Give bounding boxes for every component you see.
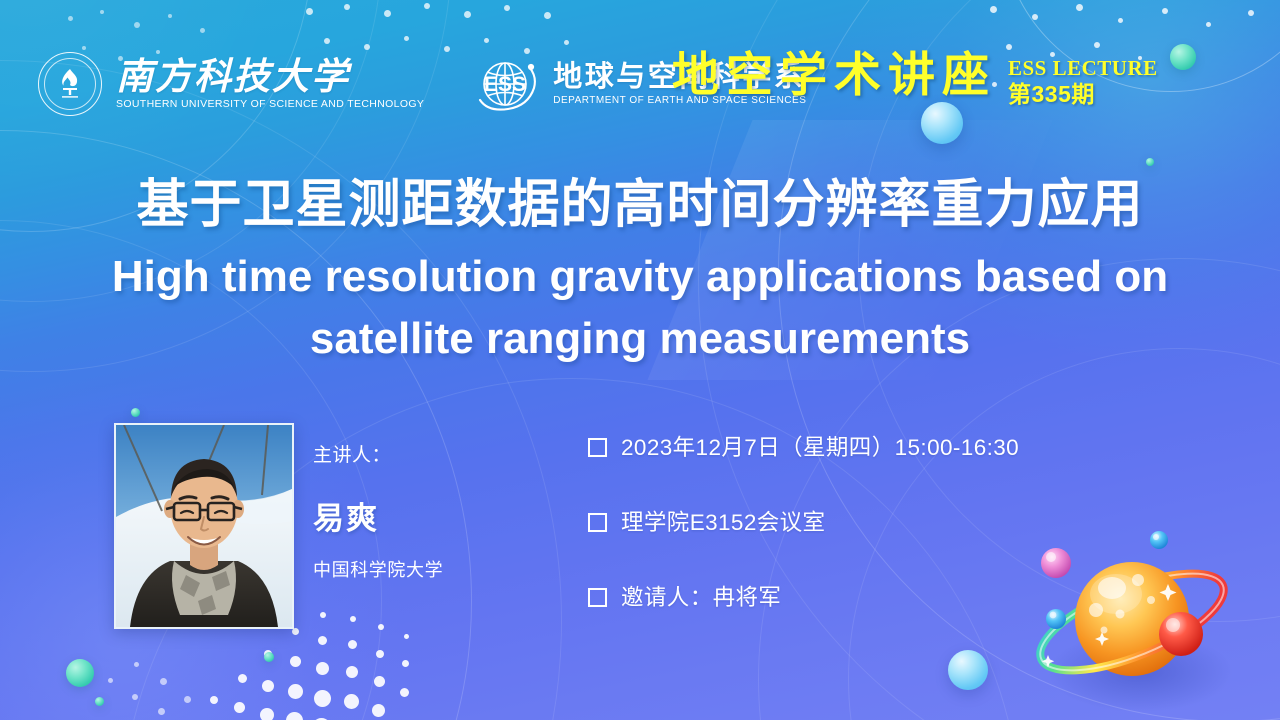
talk-title-en-line2: satellite ranging measurements — [20, 308, 1260, 370]
university-name-cn: 南方科技大学 — [116, 59, 424, 96]
detail-row-host: 邀请人：冉将军 — [588, 580, 1019, 612]
speaker-info: 主讲人： 易爽 中国科学院大学 — [313, 440, 443, 582]
saturn-planet-icon — [1020, 522, 1278, 712]
event-host: 邀请人：冉将军 — [621, 580, 781, 612]
teal-dot-mid-left — [131, 408, 140, 417]
teal-dot-bottom-left-small — [95, 697, 104, 706]
talk-title-en-line1: High time resolution gravity application… — [20, 246, 1260, 308]
speaker-photo — [114, 423, 294, 629]
series-meta: ESS LECTURE 第335期 — [1008, 56, 1158, 108]
series-title-cn: 地空学术讲座 — [672, 52, 996, 101]
teal-sphere-bottom-left — [66, 659, 94, 687]
svg-text:ESS: ESS — [484, 73, 526, 96]
teal-dot-title-left — [1146, 158, 1154, 166]
lecture-poster: 南方科技大学 SOUTHERN UNIVERSITY OF SCIENCE AN… — [0, 0, 1280, 720]
hollow-square-bullet-icon — [588, 438, 607, 457]
teal-sphere-top-right — [1170, 44, 1196, 70]
speaker-name: 易爽 — [313, 503, 443, 534]
hollow-square-bullet-icon — [588, 513, 607, 532]
hollow-square-bullet-icon — [588, 588, 607, 607]
seal-flame-icon — [57, 68, 83, 98]
university-name-en: SOUTHERN UNIVERSITY OF SCIENCE AND TECHN… — [116, 98, 424, 110]
speaker-label: 主讲人： — [313, 440, 443, 467]
speaker-portrait-image — [116, 425, 292, 627]
pink-sphere-icon — [1041, 548, 1071, 578]
speaker-affiliation: 中国科学院大学 — [313, 556, 443, 582]
blue-sphere-top-icon — [1150, 531, 1168, 549]
detail-row-location: 理学院E3152会议室 — [588, 505, 1019, 537]
detail-row-datetime: 2023年12月7日（星期四）15:00-16:30 — [588, 430, 1019, 462]
saturn-planet-illustration — [1020, 522, 1278, 712]
dot-pattern-bottom-left-outer — [104, 648, 204, 720]
sustech-logo: 南方科技大学 SOUTHERN UNIVERSITY OF SCIENCE AN… — [38, 52, 424, 116]
series-issue-number: 第335期 — [1008, 81, 1158, 109]
sustech-seal-icon — [38, 52, 102, 116]
teal-dot-dots-cluster — [264, 652, 274, 662]
blue-sphere-icon — [1046, 609, 1066, 629]
talk-title-cn: 基于卫星测距数据的高时间分辨率重力应用 — [0, 176, 1280, 234]
red-sphere-icon — [1159, 612, 1203, 656]
light-blue-sphere-bottom — [948, 650, 988, 690]
ess-globe-icon: ESS — [474, 54, 540, 114]
event-datetime: 2023年12月7日（星期四）15:00-16:30 — [621, 430, 1019, 462]
lecture-series-badge: 地空学术讲座 ESS LECTURE 第335期 — [672, 52, 1158, 108]
sustech-names: 南方科技大学 SOUTHERN UNIVERSITY OF SCIENCE AN… — [116, 59, 424, 110]
event-details: 2023年12月7日（星期四）15:00-16:30 理学院E3152会议室 邀… — [588, 430, 1019, 612]
talk-title-en: High time resolution gravity application… — [20, 246, 1260, 371]
series-title-en: ESS LECTURE — [1008, 56, 1158, 81]
event-location: 理学院E3152会议室 — [621, 505, 825, 537]
